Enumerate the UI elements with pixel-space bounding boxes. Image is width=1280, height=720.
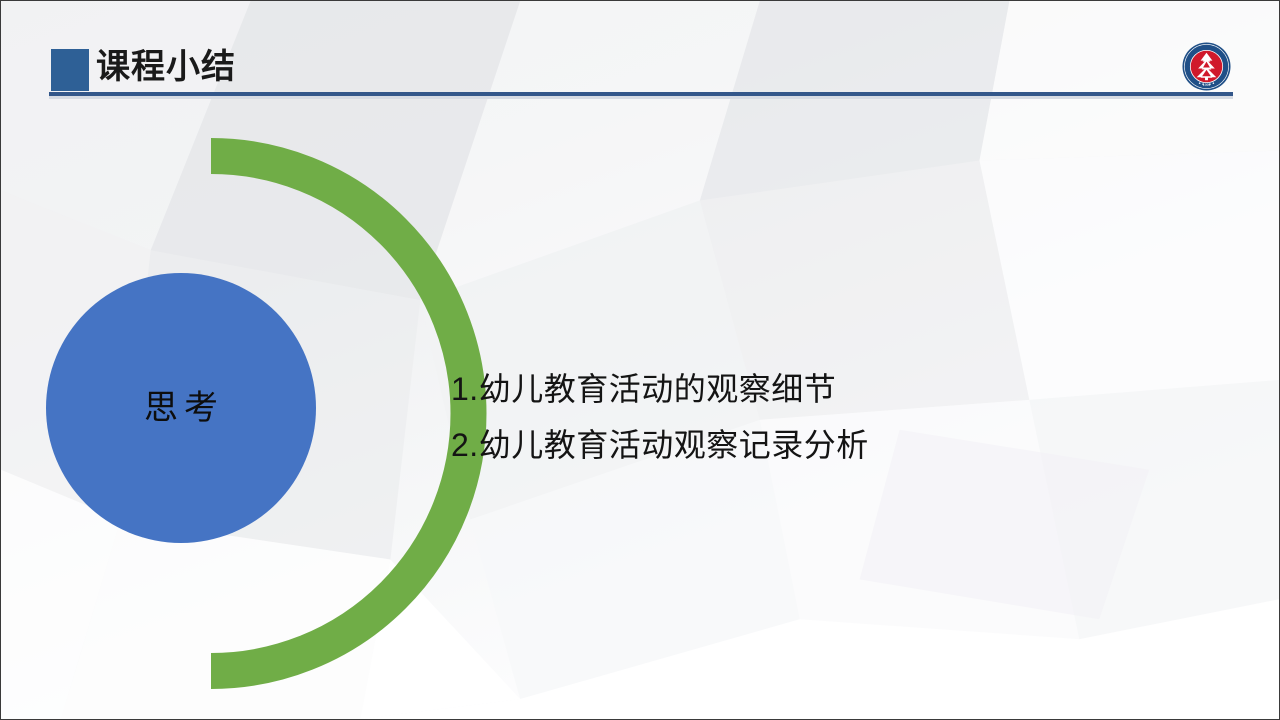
title-accent-square <box>51 49 89 91</box>
title-divider-rule-shadow <box>49 96 1233 99</box>
slide-canvas: 课程小结 <box>0 0 1280 720</box>
thinking-circle: 思考 <box>46 273 316 543</box>
list-item: 2.幼儿教育活动观察记录分析 <box>451 417 1151 473</box>
list-item: 1.幼儿教育活动的观察细节 <box>451 361 1151 417</box>
summary-list: 1.幼儿教育活动的观察细节 2.幼儿教育活动观察记录分析 <box>451 361 1151 473</box>
logo-year-text: 1999 <box>1203 83 1211 87</box>
page-title: 课程小结 <box>96 44 236 90</box>
thinking-label: 思考 <box>138 391 224 425</box>
university-logo-icon: 1999 <box>1182 42 1231 91</box>
